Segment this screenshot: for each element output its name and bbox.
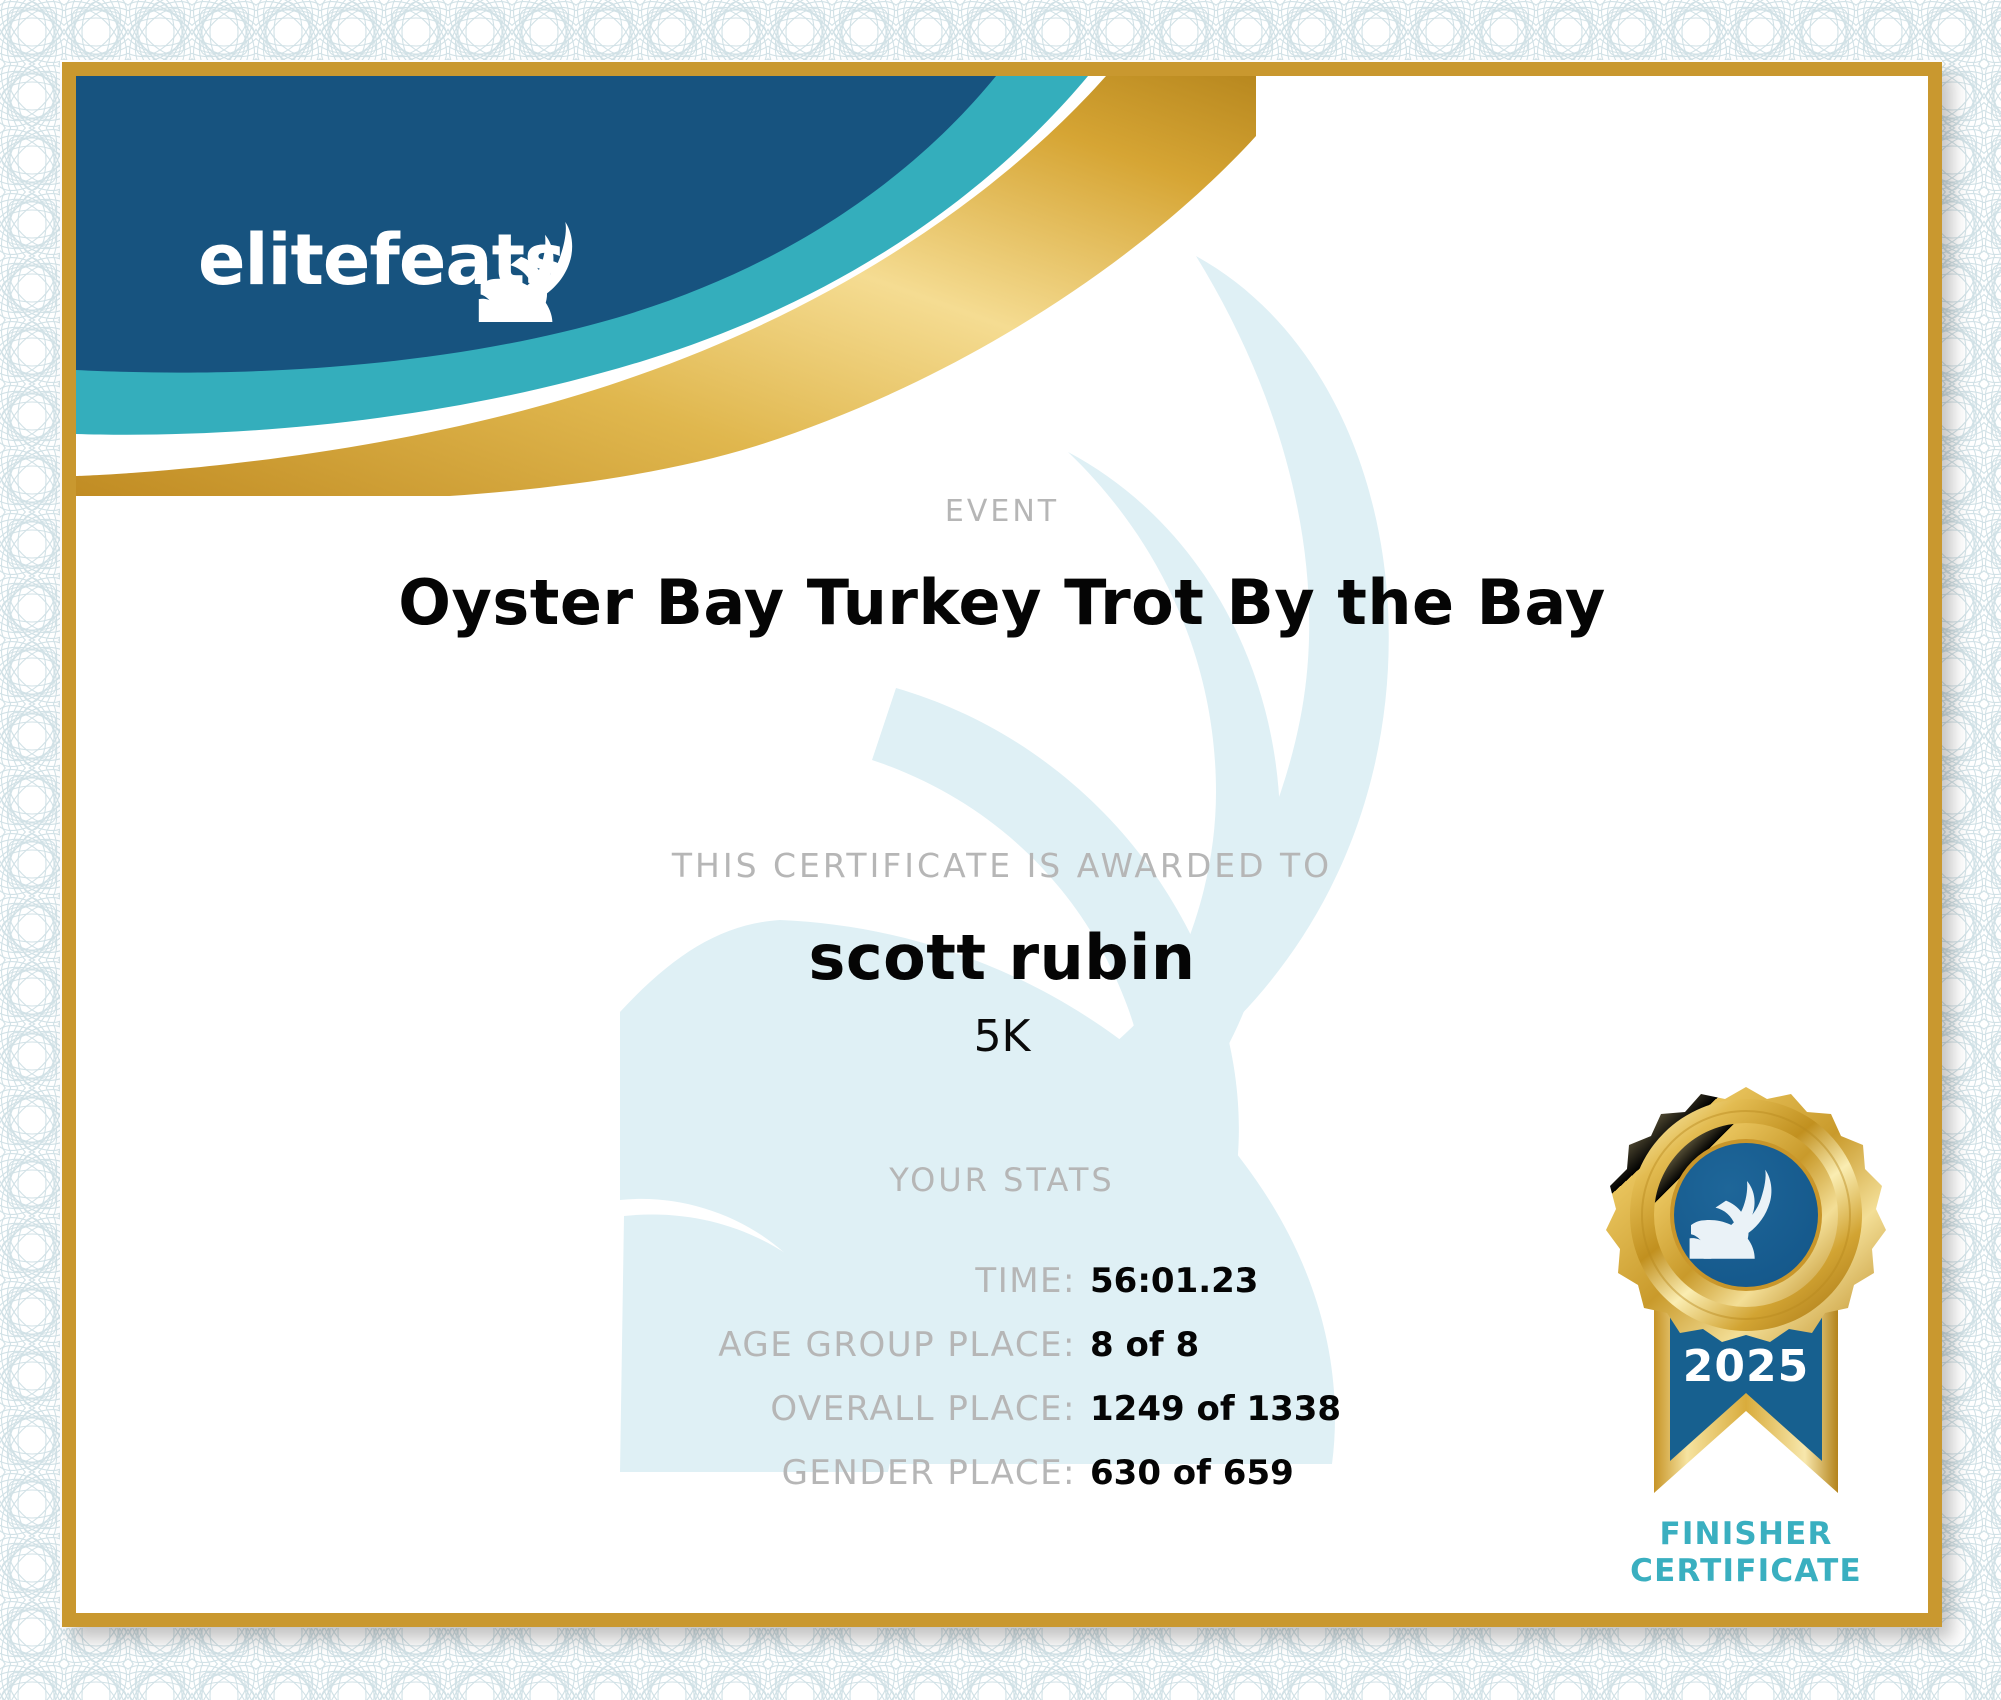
event-title: Oyster Bay Turkey Trot By the Bay [76, 566, 1928, 639]
stats-list: TIME: 56:01.23 AGE GROUP PLACE: 8 of 8 O… [76, 1261, 1366, 1517]
gold-frame: elitefeats EVENT Oyster Bay Turkey Trot … [62, 62, 1942, 1627]
stat-row-overall-place: OVERALL PLACE: 1249 of 1338 [76, 1389, 1366, 1429]
finisher-certificate-caption: FINISHER CERTIFICATE [1546, 1516, 1928, 1589]
stat-row-age-group-place: AGE GROUP PLACE: 8 of 8 [76, 1325, 1366, 1365]
recipient-name: scott rubin [76, 921, 1928, 994]
stat-label-overall-place: OVERALL PLACE: [76, 1389, 1076, 1429]
medal-year: 2025 [1683, 1341, 1809, 1392]
certificate-body: elitefeats EVENT Oyster Bay Turkey Trot … [76, 76, 1928, 1613]
stat-label-time: TIME: [76, 1261, 1076, 1301]
stat-value-gender-place: 630 of 659 [1076, 1453, 1366, 1493]
stat-value-age-group-place: 8 of 8 [1076, 1325, 1366, 1365]
finisher-caption-line1: FINISHER [1546, 1516, 1928, 1553]
event-label: EVENT [76, 494, 1928, 529]
finisher-medal-badge: 2025 [1586, 1081, 1906, 1521]
stat-label-gender-place: GENDER PLACE: [76, 1453, 1076, 1493]
stat-row-time: TIME: 56:01.23 [76, 1261, 1366, 1301]
stat-value-time: 56:01.23 [1076, 1261, 1366, 1301]
awarded-to-label: THIS CERTIFICATE IS AWARDED TO [76, 846, 1928, 885]
elitefeats-logo: elitefeats [198, 212, 588, 322]
stat-label-age-group-place: AGE GROUP PLACE: [76, 1325, 1076, 1365]
stat-value-overall-place: 1249 of 1338 [1076, 1389, 1366, 1429]
finisher-caption-line2: CERTIFICATE [1546, 1553, 1928, 1590]
stat-row-gender-place: GENDER PLACE: 630 of 659 [76, 1453, 1366, 1493]
race-distance: 5K [76, 1011, 1928, 1062]
certificate-page: elitefeats EVENT Oyster Bay Turkey Trot … [0, 0, 2001, 1700]
